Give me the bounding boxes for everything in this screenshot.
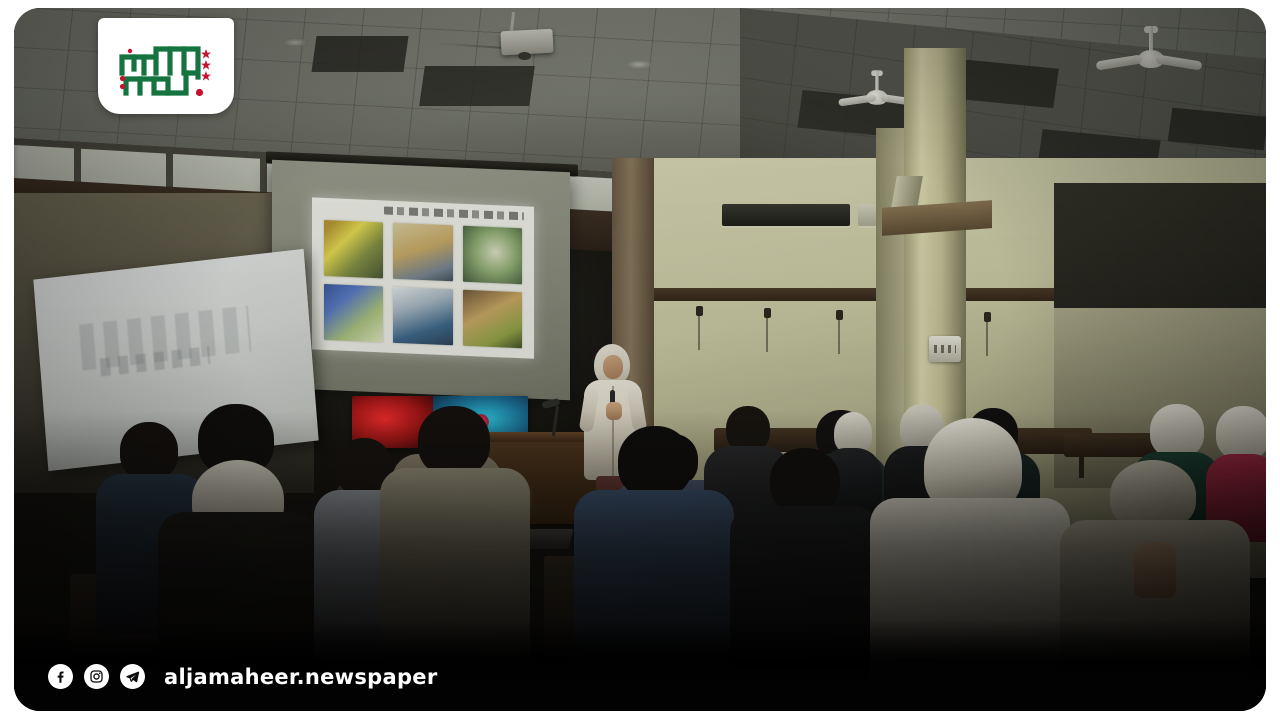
slide-photo xyxy=(393,223,452,281)
ceiling-fan xyxy=(1118,26,1184,82)
wall-hook xyxy=(764,308,771,318)
telegram-icon[interactable] xyxy=(120,664,145,689)
ceiling-downlight xyxy=(282,38,308,47)
news-photo: aljamaheer.newspaper xyxy=(14,8,1266,711)
page-root: aljamaheer.newspaper xyxy=(0,0,1280,719)
slide-arabic-caption xyxy=(384,206,524,220)
aljamaheer-logo-mark xyxy=(110,33,222,99)
facebook-icon[interactable] xyxy=(48,664,73,689)
audience-headscarf xyxy=(1150,404,1204,458)
wall-hook xyxy=(696,306,703,316)
missing-ceiling-tile xyxy=(419,66,535,106)
slide-photo xyxy=(463,290,522,348)
presenter-face xyxy=(603,355,623,379)
wall-hook xyxy=(984,312,991,322)
footer-credit: aljamaheer.newspaper xyxy=(48,664,438,689)
slide-photo-grid xyxy=(324,220,522,348)
ceiling-downlight xyxy=(626,60,652,69)
audience-head xyxy=(618,426,692,498)
photo-footer: aljamaheer.newspaper xyxy=(14,619,1266,711)
fan-rod xyxy=(1149,26,1153,52)
audience-headscarf xyxy=(1216,406,1266,460)
audience-head xyxy=(770,448,840,514)
slide-photo xyxy=(463,226,522,284)
audience-head xyxy=(418,406,490,476)
slide-photo xyxy=(324,220,383,278)
social-handle: aljamaheer.newspaper xyxy=(164,665,438,689)
presenter-hands xyxy=(606,402,622,420)
fan-rod xyxy=(875,70,878,91)
wall-hook xyxy=(836,310,843,320)
projector-lens xyxy=(518,52,531,60)
slide-photo xyxy=(393,287,452,345)
missing-ceiling-tile xyxy=(311,36,408,72)
slide-photo xyxy=(324,284,383,342)
instagram-icon[interactable] xyxy=(84,664,109,689)
projected-slide xyxy=(312,197,534,358)
audience-hands xyxy=(1134,542,1176,598)
wall-vent xyxy=(722,204,850,226)
electrical-box xyxy=(929,336,961,362)
aljamaheer-logo-badge xyxy=(98,18,234,114)
projection-screen xyxy=(272,160,570,400)
ceiling-fan xyxy=(855,70,899,109)
